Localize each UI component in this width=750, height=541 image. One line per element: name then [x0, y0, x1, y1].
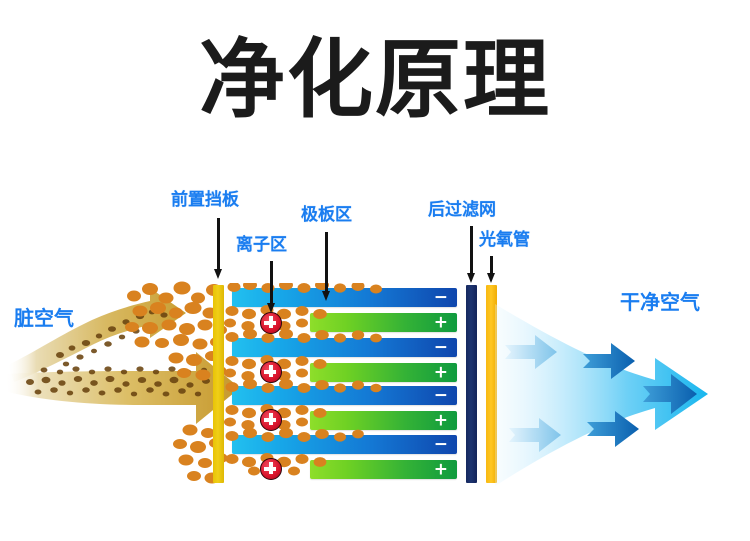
positive-plate-sign: +: [434, 314, 448, 331]
clean-air-label: 干净空气: [620, 290, 700, 314]
dirt-between-plates: [224, 283, 404, 483]
positive-plate-sign: +: [434, 461, 448, 478]
positive-plate-sign: +: [434, 412, 448, 429]
front-baffle-leader-arrow: [214, 218, 223, 270]
negative-plate-sign: −: [434, 387, 448, 404]
plate-zone-leader-arrow: [322, 232, 331, 292]
plate-zone-label: 极板区: [301, 205, 352, 225]
negative-plate-sign: −: [434, 436, 448, 453]
negative-plate-sign: −: [434, 289, 448, 306]
photo-oxygen-tube-label: 光氧管: [479, 230, 530, 250]
clean-air-group: 干净空气: [495, 300, 750, 490]
ion-particle-4: [260, 458, 282, 480]
ion-particle-3: [260, 409, 282, 431]
negative-plate-sign: −: [434, 339, 448, 356]
ion-zone-leader-arrow: [267, 261, 276, 304]
rear-filter-label: 后过滤网: [428, 200, 496, 220]
rear-filter-leader-arrow: [467, 226, 476, 274]
photo-oxygen-tube-leader-arrow: [487, 256, 496, 274]
ion-zone-label: 离子区: [236, 235, 287, 255]
front-baffle-bar: [213, 285, 224, 483]
clean-air-cone-svg: [495, 300, 750, 490]
positive-plate-sign: +: [434, 364, 448, 381]
rear-filter-bar: [466, 285, 477, 483]
diagram-canvas: 净化原理: [0, 0, 750, 541]
ion-particle-1: [260, 312, 282, 334]
ion-particle-2: [260, 361, 282, 383]
front-baffle-label: 前置挡板: [171, 190, 239, 210]
